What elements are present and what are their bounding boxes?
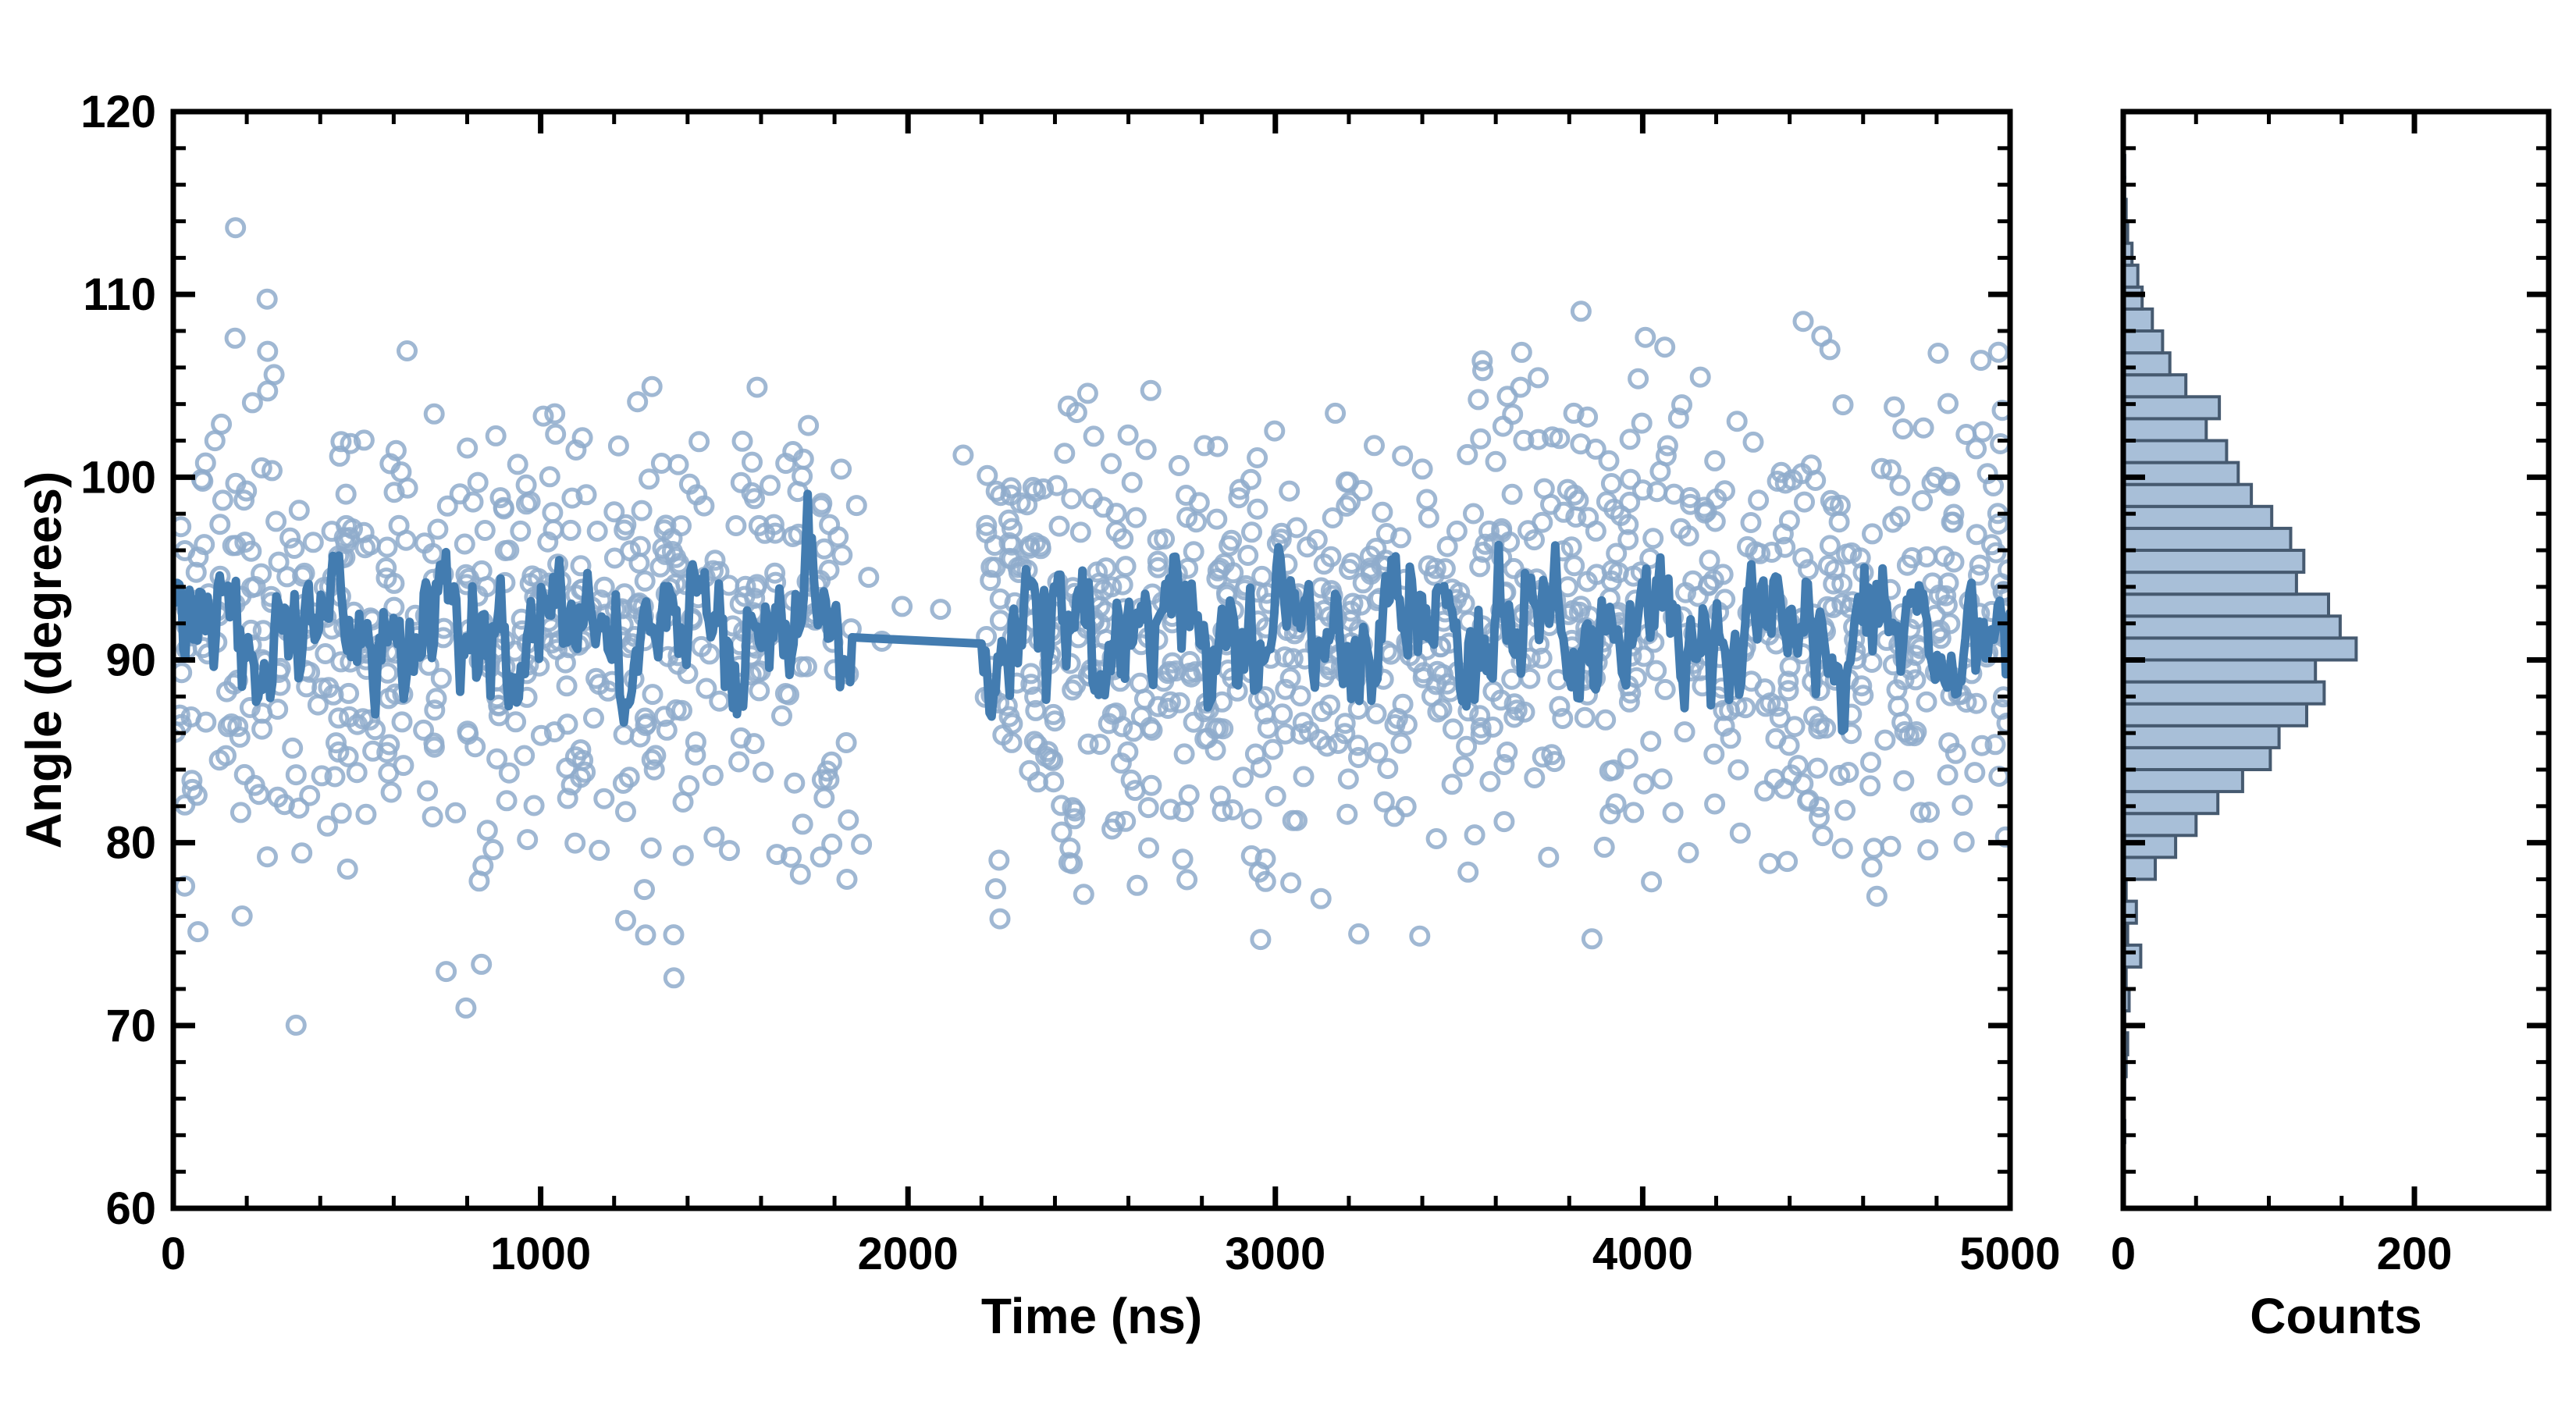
scatter-point <box>382 784 400 801</box>
scatter-point <box>1142 382 1159 399</box>
scatter-point <box>704 767 721 784</box>
hist-x-tick-label: 200 <box>2377 1229 2453 1279</box>
tilt-figure: Tilt010002000300040005000607080901001101… <box>0 0 2576 1405</box>
scatter-point <box>596 790 613 807</box>
scatter-point <box>1540 848 1557 866</box>
scatter-point <box>1274 706 1291 723</box>
scatter-point <box>1132 674 1149 692</box>
scatter-point <box>1127 509 1144 526</box>
histogram-bar <box>2123 287 2142 309</box>
scatter-point <box>1706 795 1724 813</box>
scatter-point <box>309 696 326 713</box>
scatter-point <box>1831 514 1848 531</box>
scatter-point <box>1350 925 1368 942</box>
scatter-point <box>786 774 803 791</box>
scatter-point <box>1312 890 1329 907</box>
scatter-point <box>1656 339 1674 356</box>
scatter-point <box>1444 720 1461 738</box>
scatter-point <box>287 767 304 784</box>
scatter-point <box>231 728 248 745</box>
scatter-point <box>525 797 543 814</box>
scatter-point <box>732 474 749 491</box>
x-tick-label: 5000 <box>1959 1229 2060 1279</box>
scatter-point <box>1505 560 1522 577</box>
x-tick-label: 1000 <box>490 1229 591 1279</box>
scatter-point <box>1809 759 1826 777</box>
scatter-point <box>1761 855 1778 872</box>
scatter-point <box>1140 799 1157 816</box>
y-tick-label: 120 <box>80 87 156 137</box>
scatter-point <box>244 394 261 411</box>
scatter-point <box>670 456 687 473</box>
scatter-point <box>1079 385 1096 402</box>
scatter-point <box>498 792 515 809</box>
scatter-point <box>1706 745 1723 763</box>
scatter-point <box>1143 777 1160 794</box>
scatter-point <box>489 750 506 767</box>
scatter-point <box>1051 518 1068 535</box>
scatter-point <box>637 927 654 944</box>
scatter-point <box>800 417 817 434</box>
scatter-point <box>1648 662 1665 679</box>
scatter-point <box>487 427 504 444</box>
scatter-point <box>1795 313 1812 330</box>
scatter-point <box>1635 775 1653 792</box>
scatter-point <box>424 809 441 826</box>
scatter-point <box>833 461 850 478</box>
scatter-point <box>665 969 682 987</box>
scatter-point <box>1281 482 1298 500</box>
scatter-point <box>1249 500 1266 518</box>
hist-axis-label: Counts <box>2250 1288 2421 1344</box>
scatter-point <box>290 502 308 519</box>
scatter-point <box>519 831 536 848</box>
scatter-point <box>706 552 724 569</box>
scatter-point <box>1868 887 1885 905</box>
scatter-point <box>1411 927 1429 944</box>
scatter-point <box>1603 475 1620 493</box>
hist-x-tick-label: 0 <box>2111 1229 2136 1279</box>
histogram-bar <box>2123 418 2206 440</box>
scatter-point <box>1368 706 1385 723</box>
histogram-bar <box>2123 397 2219 418</box>
scatter-point <box>1955 834 1973 851</box>
scatter-point <box>1504 406 1521 423</box>
scatter-point <box>1129 877 1146 894</box>
scatter-point <box>1496 813 1513 831</box>
histogram-bar <box>2123 331 2162 353</box>
scatter-point <box>728 518 745 535</box>
scatter-point <box>1243 810 1260 827</box>
scatter-point <box>236 766 253 783</box>
scatter-point <box>516 747 533 764</box>
scatter-point <box>190 923 207 941</box>
scatter-point <box>386 599 403 616</box>
scatter-point <box>1085 428 1102 445</box>
histogram-bar <box>2123 463 2238 485</box>
scatter-point <box>642 839 660 856</box>
scatter-point <box>1587 440 1604 457</box>
scatter-point <box>1379 760 1397 777</box>
scatter-point <box>1240 547 1257 564</box>
scatter-point <box>1470 391 1487 408</box>
scatter-point <box>438 963 455 980</box>
scatter-point <box>518 476 535 493</box>
scatter-point <box>337 486 354 503</box>
scatter-point <box>848 497 865 514</box>
scatter-point <box>755 763 772 781</box>
scatter-point <box>304 534 322 551</box>
scatter-point <box>1512 379 1529 396</box>
running-mean-line <box>173 494 2010 731</box>
scatter-point <box>792 866 809 883</box>
scatter-point <box>1920 841 1937 859</box>
scatter-point <box>615 726 632 743</box>
scatter-point <box>1728 413 1745 430</box>
scatter-point <box>1966 764 1984 781</box>
scatter-point <box>1056 445 1073 462</box>
scatter-point <box>1414 461 1431 478</box>
histogram-bar <box>2123 309 2152 331</box>
scatter-point <box>1973 352 1990 369</box>
scatter-point <box>212 516 229 533</box>
scatter-point <box>1882 838 1899 855</box>
scatter-point <box>585 710 603 727</box>
scatter-point <box>1064 681 1081 699</box>
scatter-point <box>1915 419 1932 436</box>
scatter-point <box>1342 493 1359 510</box>
scatter-point <box>1534 514 1551 531</box>
scatter-point <box>259 848 276 866</box>
scatter-point <box>395 757 412 774</box>
scatter-point <box>399 343 416 360</box>
scatter-point <box>456 535 473 553</box>
scatter-point <box>894 598 911 615</box>
scatter-point <box>643 378 660 395</box>
scatter-point <box>253 459 270 476</box>
x-axis-label: Time (ns) <box>981 1288 1202 1344</box>
scatter-point <box>744 454 761 471</box>
scatter-point <box>1266 422 1283 439</box>
scatter-point <box>1117 558 1134 575</box>
scatter-point <box>1779 853 1796 870</box>
scatter-point <box>507 713 525 731</box>
scatter-point <box>1637 329 1654 346</box>
scatter-point <box>1834 397 1852 414</box>
scatter-point <box>473 955 490 973</box>
scatter-point <box>1119 426 1137 443</box>
scatter-point <box>1526 770 1543 787</box>
scatter-point <box>734 432 751 450</box>
scatter-point <box>1621 431 1638 448</box>
scatter-point <box>1692 368 1709 386</box>
histogram-bar <box>2123 835 2176 857</box>
histogram-bar <box>2123 375 2186 397</box>
scatter-point <box>987 880 1005 898</box>
scatter-point <box>665 927 682 944</box>
scatter-point <box>294 845 311 862</box>
scatter-point <box>1891 477 1909 494</box>
scatter-point <box>339 860 356 877</box>
scatter-point <box>419 782 436 799</box>
scatter-point <box>1886 398 1903 415</box>
scatter-point <box>1140 839 1158 856</box>
scatter-point <box>227 219 244 237</box>
scatter-point <box>1701 552 1718 569</box>
scatter-point <box>1249 450 1266 467</box>
scatter-point <box>1895 421 1912 438</box>
histogram-bar <box>2123 485 2251 507</box>
histogram-bar <box>2123 528 2291 550</box>
scatter-point <box>1487 453 1504 470</box>
scatter-point <box>1448 522 1465 539</box>
scatter-point <box>1466 827 1483 844</box>
scatter-point <box>1745 433 1762 450</box>
y-tick-label: 70 <box>105 1001 156 1051</box>
scatter-point <box>1460 863 1477 880</box>
scatter-point <box>711 692 728 710</box>
histogram-bar <box>2123 660 2315 682</box>
y-tick-label: 110 <box>83 269 156 320</box>
scatter-point <box>1513 343 1530 361</box>
scatter-point <box>1877 731 1894 749</box>
scatter-point <box>1465 505 1482 522</box>
scatter-point <box>1990 343 2007 361</box>
scatter-point <box>1930 345 1947 362</box>
scatter-point <box>1645 530 1662 547</box>
histogram-bar <box>2123 682 2324 704</box>
scatter-point <box>1914 493 1931 510</box>
scatter-point <box>834 546 851 564</box>
scatter-point <box>1176 745 1193 763</box>
scatter-point <box>426 702 443 719</box>
histogram-bar <box>2123 616 2340 638</box>
scatter-point <box>447 804 464 821</box>
scatter-point <box>1742 514 1759 532</box>
scatter-point <box>358 806 375 823</box>
scatter-point <box>206 432 223 450</box>
scatter-point <box>1652 463 1669 480</box>
scatter-point <box>1397 798 1414 815</box>
scatter-point <box>476 522 493 539</box>
scatter-point <box>751 682 768 699</box>
scatter-point <box>1394 447 1411 464</box>
scatter-point <box>1974 423 1991 440</box>
histogram-bar <box>2123 813 2196 835</box>
scatter-point <box>379 664 397 681</box>
scatter-point <box>1664 804 1681 821</box>
scatter-point <box>379 539 396 556</box>
scatter-point <box>1731 824 1749 841</box>
scatter-point <box>1622 471 1639 488</box>
scatter-point <box>816 789 833 806</box>
scatter-point <box>674 847 692 864</box>
histogram-bar <box>2123 726 2279 748</box>
scatter-point <box>1625 804 1642 821</box>
y-tick-label: 100 <box>80 452 156 503</box>
histogram-bar <box>2123 748 2270 770</box>
y-tick-label: 90 <box>105 635 156 686</box>
scatter-point <box>1369 744 1386 761</box>
scatter-point <box>1350 737 1367 754</box>
scatter-point <box>1630 370 1647 387</box>
scatter-point <box>562 521 579 539</box>
scatter-point <box>1864 525 1881 542</box>
scatter-point <box>853 836 870 853</box>
scatter-point <box>749 379 766 396</box>
scatter-point <box>991 910 1009 927</box>
scatter-point <box>1283 874 1300 891</box>
scatter-point <box>1185 543 1202 560</box>
scatter-point <box>1244 524 1261 541</box>
scatter-point <box>1242 471 1259 488</box>
scatter-point <box>1730 761 1747 778</box>
scatter-point <box>1091 736 1108 753</box>
scatter-point <box>633 502 650 519</box>
scatter-point <box>932 601 949 618</box>
scatter-point <box>1866 840 1883 857</box>
hist-x-axis-label: Counts <box>2250 1288 2421 1344</box>
scatter-point <box>1459 446 1476 463</box>
scatter-point <box>762 477 779 494</box>
scatter-point <box>1340 770 1357 788</box>
scatter-point <box>509 456 526 473</box>
scatter-point <box>991 612 1009 629</box>
scatter-point <box>1863 859 1880 876</box>
histogram-bar <box>2123 638 2356 660</box>
scatter-point <box>1265 741 1282 758</box>
scatter-point <box>1656 681 1674 698</box>
scatter-point <box>1295 768 1312 785</box>
scatter-point <box>512 522 529 539</box>
x-tick-label: 2000 <box>858 1229 959 1279</box>
scatter-point <box>706 828 723 845</box>
histogram-bar <box>2123 857 2155 879</box>
scatter-point <box>1454 758 1471 775</box>
scatter-point <box>425 405 443 422</box>
histogram-bar <box>2123 507 2272 528</box>
scatter-point <box>1643 873 1660 891</box>
scatter-point <box>258 290 276 308</box>
scatter-point <box>1327 404 1344 421</box>
scatter-point <box>774 707 791 724</box>
y-axis-label: Angle (degrees) <box>16 471 72 849</box>
scatter-point <box>641 471 658 488</box>
scatter-point <box>1428 831 1445 848</box>
scatter-point <box>629 393 646 411</box>
scatter-point <box>821 516 838 533</box>
scatter-point <box>1185 713 1202 731</box>
scatter-point <box>1179 871 1196 888</box>
scatter-point <box>1583 930 1600 948</box>
scatter-point <box>1267 788 1284 805</box>
y-tick-label: 80 <box>105 818 156 869</box>
scatter-point <box>1895 772 1912 789</box>
scatter-point <box>1633 414 1650 432</box>
scatter-point <box>731 753 748 770</box>
scatter-point <box>1482 773 1499 790</box>
scatter-point <box>1676 724 1693 741</box>
scatter-point <box>1503 486 1521 503</box>
scatter-point <box>393 713 411 731</box>
scatter-point <box>1530 369 1547 386</box>
scatter-point <box>610 437 627 454</box>
scatter-point <box>860 569 877 586</box>
histogram-bar <box>2123 550 2304 572</box>
histogram-bar <box>2123 770 2243 791</box>
scatter-point <box>544 504 561 521</box>
histogram-bar <box>2123 704 2307 726</box>
scatter-point <box>429 521 447 538</box>
scatter-point <box>1072 524 1089 541</box>
scatter-point <box>226 329 244 347</box>
scatter-point <box>1863 754 1880 771</box>
x-tick-label: 3000 <box>1225 1229 1325 1279</box>
scatter-point <box>1580 509 1597 526</box>
scatter-point <box>265 366 283 383</box>
scatter-point <box>1075 886 1092 903</box>
scatter-point <box>1813 328 1831 345</box>
scatter-point <box>691 433 708 450</box>
scatter-point <box>459 439 476 457</box>
scatter-point <box>319 817 336 834</box>
scatter-point <box>591 841 608 859</box>
scatter-point <box>1443 776 1461 793</box>
scatter-point <box>1103 455 1120 472</box>
scatter-point <box>1137 441 1155 458</box>
scatter-point <box>232 804 249 821</box>
scatter-point <box>1366 437 1383 454</box>
scatter-point <box>1420 509 1437 526</box>
scatter-point <box>824 835 841 852</box>
scatter-point <box>979 467 996 484</box>
scatter-point <box>1940 395 1957 412</box>
scatter-point <box>1862 777 1879 795</box>
scatter-point <box>617 912 635 929</box>
scatter-point <box>1653 770 1670 788</box>
scatter-point <box>1418 491 1436 508</box>
scatter-point <box>1393 735 1410 752</box>
histogram-bar <box>2123 353 2170 375</box>
scatter-point <box>268 513 285 530</box>
scatter-point <box>1235 769 1252 786</box>
scatter-point <box>259 343 276 360</box>
scatter-point <box>1992 436 2009 453</box>
scatter-point <box>955 446 972 464</box>
scatter-point <box>213 415 230 432</box>
scatter-point <box>1642 733 1660 750</box>
scatter-point <box>1597 711 1614 728</box>
scatter-point <box>636 572 653 589</box>
scatter-point <box>1796 493 1813 510</box>
scatter-point <box>1339 806 1356 823</box>
scatter-point <box>816 540 833 557</box>
figure-root: Tilt010002000300040005000607080901001101… <box>0 0 2576 1405</box>
scatter-point <box>485 841 502 859</box>
scatter-point <box>674 794 692 811</box>
scatter-point <box>1170 457 1187 475</box>
scatter-point <box>1939 767 1956 784</box>
scatter-point <box>1814 827 1831 845</box>
scatter-point <box>233 908 251 925</box>
histogram-bar <box>2123 441 2226 463</box>
scatter-point <box>567 834 584 852</box>
scatter-point <box>197 454 214 471</box>
scatter-point <box>838 871 856 888</box>
scatter-point <box>1706 452 1724 469</box>
histogram-bar <box>2123 572 2297 594</box>
scatter-point <box>479 822 496 839</box>
